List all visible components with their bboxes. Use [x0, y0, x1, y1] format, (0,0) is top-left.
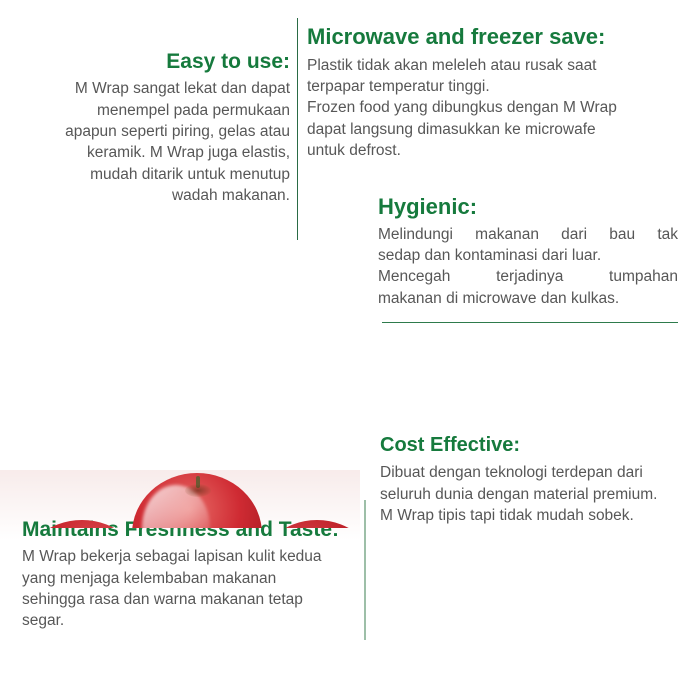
text-line: keramik. M Wrap juga elastis, — [20, 142, 290, 163]
text-line: wadah makanan. — [20, 185, 290, 206]
text-line: dapat langsung dimasukkan ke microwafe — [307, 119, 683, 140]
text-line: M Wrap bekerja sebagai lapisan kulit ked… — [22, 546, 352, 567]
easy-to-use-heading: Easy to use: — [20, 50, 290, 74]
text-line: M Wrap sangat lekat dan dapat — [20, 78, 290, 99]
text-line: yang menjaga kelembaban makanan — [22, 568, 352, 589]
section-easy-to-use: Easy to use: M Wrap sangat lekat dan dap… — [20, 50, 290, 207]
apple-dimple-top — [185, 484, 211, 497]
easy-to-use-body: M Wrap sangat lekat dan dapat menempel p… — [20, 78, 290, 206]
text-line: makanan di microwave dan kulkas. — [378, 288, 678, 309]
text-line: Mencegah terjadinya tumpahan — [378, 266, 678, 287]
cost-effective-body: Dibuat dengan teknologi terdepan dari se… — [380, 462, 695, 526]
divider-vertical-top — [297, 18, 298, 240]
section-hygienic: Hygienic: Melindungi makanan dari bau ta… — [378, 194, 678, 309]
text-line: mudah ditarik untuk menutup — [20, 164, 290, 185]
cost-effective-heading: Cost Effective: — [380, 434, 695, 457]
section-microwave-freezer-save: Microwave and freezer save: Plastik tida… — [307, 24, 683, 161]
text-line: sehingga rasa dan warna makanan tetap — [22, 589, 352, 610]
text-line: seluruh dunia dengan material premium. — [380, 484, 695, 505]
text-line: apapun seperti piring, gelas atau — [20, 121, 290, 142]
hygienic-heading: Hygienic: — [378, 194, 678, 220]
text-line: Melindungi makanan dari bau tak — [378, 224, 678, 245]
text-line: sedap dan kontaminasi dari luar. — [378, 245, 678, 266]
divider-horizontal-hygienic — [382, 322, 678, 323]
text-line: untuk defrost. — [307, 140, 683, 161]
text-line: Plastik tidak akan meleleh atau rusak sa… — [307, 55, 683, 76]
hygienic-body: Melindungi makanan dari bau tak sedap da… — [378, 224, 678, 310]
text-line: menempel pada permukaan — [20, 100, 290, 121]
text-line: M Wrap tipis tapi tidak mudah sobek. — [380, 505, 695, 526]
text-line: Dibuat dengan teknologi terdepan dari — [380, 462, 695, 483]
text-line: Frozen food yang dibungkus dengan M Wrap — [307, 97, 683, 118]
product-photo — [0, 228, 380, 528]
section-maintains-freshness: Maintains Freshness and Taste: M Wrap be… — [22, 518, 352, 632]
text-line: terpapar temperatur tinggi. — [307, 76, 683, 97]
infographic-poster: Easy to use: M Wrap sangat lekat dan dap… — [0, 0, 700, 700]
section-cost-effective: Cost Effective: Dibuat dengan teknologi … — [380, 434, 695, 526]
freshness-body: M Wrap bekerja sebagai lapisan kulit ked… — [22, 546, 352, 632]
microwave-body: Plastik tidak akan meleleh atau rusak sa… — [307, 55, 683, 162]
divider-vertical-bottom — [364, 500, 366, 640]
text-line: segar. — [22, 610, 352, 631]
microwave-heading: Microwave and freezer save: — [307, 24, 683, 50]
